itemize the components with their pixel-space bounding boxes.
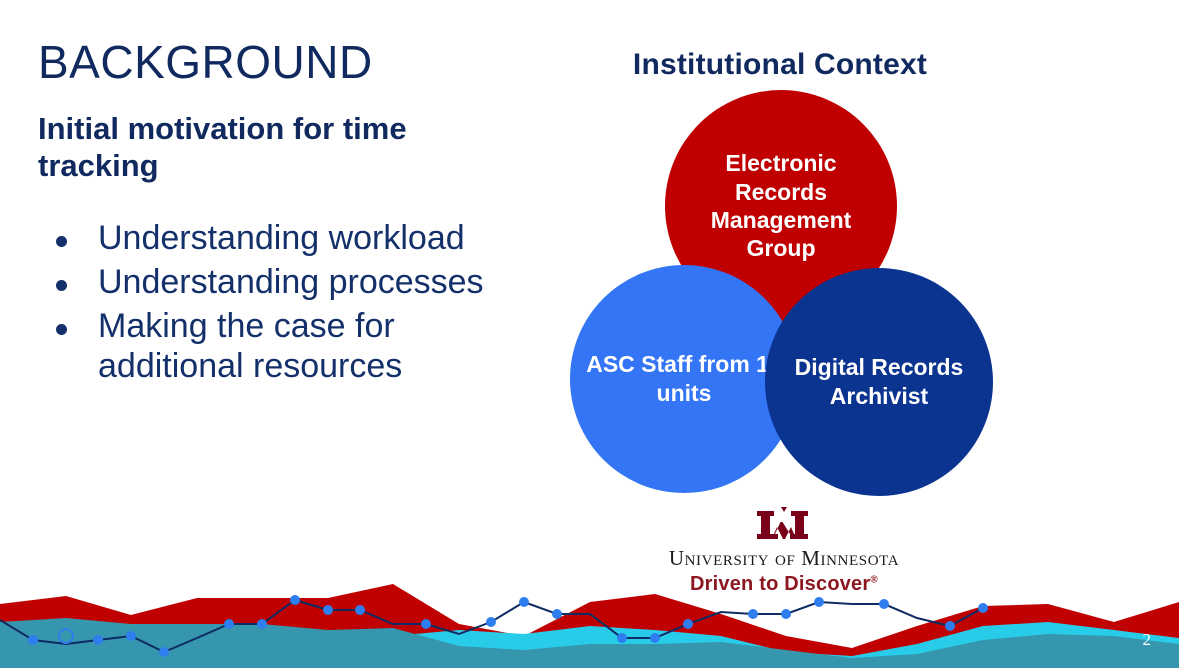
left-content-column: BACKGROUND Initial motivation for time t… [38, 38, 538, 390]
page-number: 2 [1143, 630, 1152, 650]
right-content-column: Institutional Context Electronic Records… [560, 40, 1160, 620]
university-wordmark: University of Minnesota [624, 546, 944, 571]
venn-circle-asc-staff: ASC Staff from 15 units [570, 265, 798, 493]
venn-circle-label: Digital Records Archivist [779, 353, 979, 410]
page-title: BACKGROUND [38, 38, 538, 88]
list-item: Understanding processes [38, 263, 498, 303]
venn-circle-label: ASC Staff from 15 units [580, 350, 788, 407]
venn-circle-digital-records-archivist: Digital Records Archivist [765, 268, 993, 496]
bullet-dot-icon [56, 236, 67, 247]
venn-circle-label: Electronic Records Management Group [687, 149, 875, 262]
institutional-context-heading: Institutional Context [560, 48, 1000, 82]
bullet-list: Understanding workload Understanding pro… [38, 219, 498, 386]
wave-chart-decoration [0, 578, 1179, 668]
venn-diagram: Electronic Records Management Group ASC … [560, 90, 1030, 510]
list-item-label: Understanding workload [98, 219, 465, 257]
list-item: Understanding workload [38, 219, 498, 259]
list-item: Making the case for additional resources [38, 307, 498, 387]
list-item-label: Understanding processes [98, 263, 484, 301]
umn-block-m-icon [755, 505, 813, 545]
bullet-dot-icon [56, 324, 67, 335]
section-subtitle: Initial motivation for time tracking [38, 110, 408, 186]
list-item-label: Making the case for additional resources [98, 307, 402, 385]
bullet-dot-icon [56, 280, 67, 291]
